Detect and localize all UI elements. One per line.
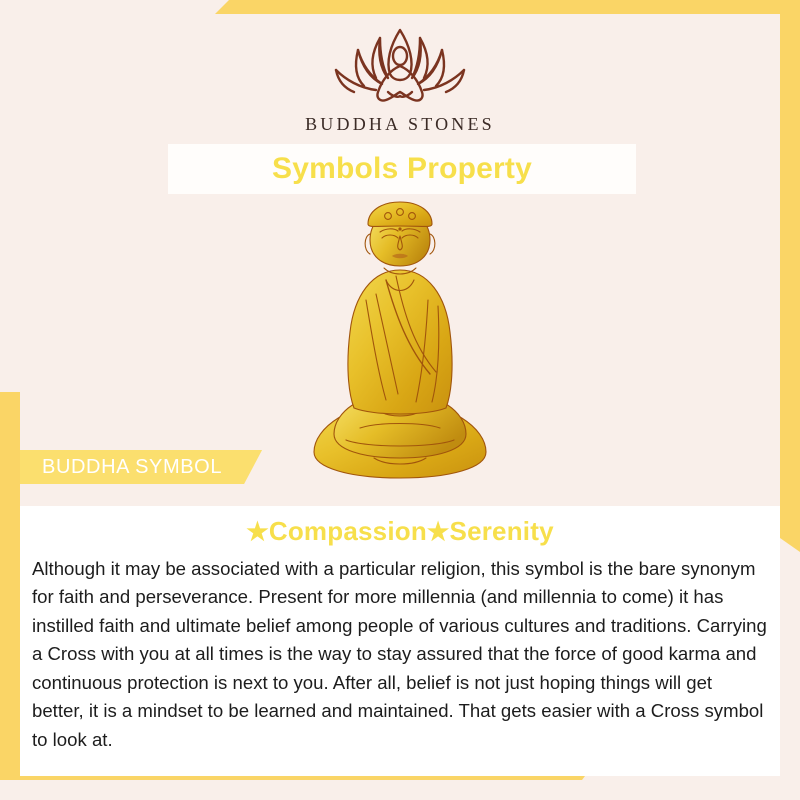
lotus-meditation-icon <box>320 22 480 110</box>
decor-band-top <box>215 0 800 14</box>
content-body-text: Although it may be associated with a par… <box>32 555 768 754</box>
page-title: Symbols Property <box>272 152 532 186</box>
hero-image-wrap <box>0 196 800 491</box>
brand-logo-block: BUDDHA STONES <box>0 22 800 135</box>
star-icon-left: ★ <box>246 518 269 546</box>
section-ribbon: BUDDHA SYMBOL <box>20 450 262 484</box>
brand-name: BUDDHA STONES <box>0 114 800 135</box>
content-panel: ★Compassion★Serenity Although it may be … <box>20 506 780 776</box>
poster-canvas: BUDDHA STONES Symbols Property <box>0 0 800 800</box>
content-subtitle: ★Compassion★Serenity <box>20 516 780 547</box>
star-icon-right: ★ <box>427 518 450 546</box>
subtitle-word-serenity: Serenity <box>450 516 554 546</box>
subtitle-word-compassion: Compassion <box>269 516 427 546</box>
section-ribbon-label: BUDDHA SYMBOL <box>42 456 222 479</box>
golden-buddha-statue <box>300 196 500 486</box>
title-banner: Symbols Property <box>168 144 636 194</box>
